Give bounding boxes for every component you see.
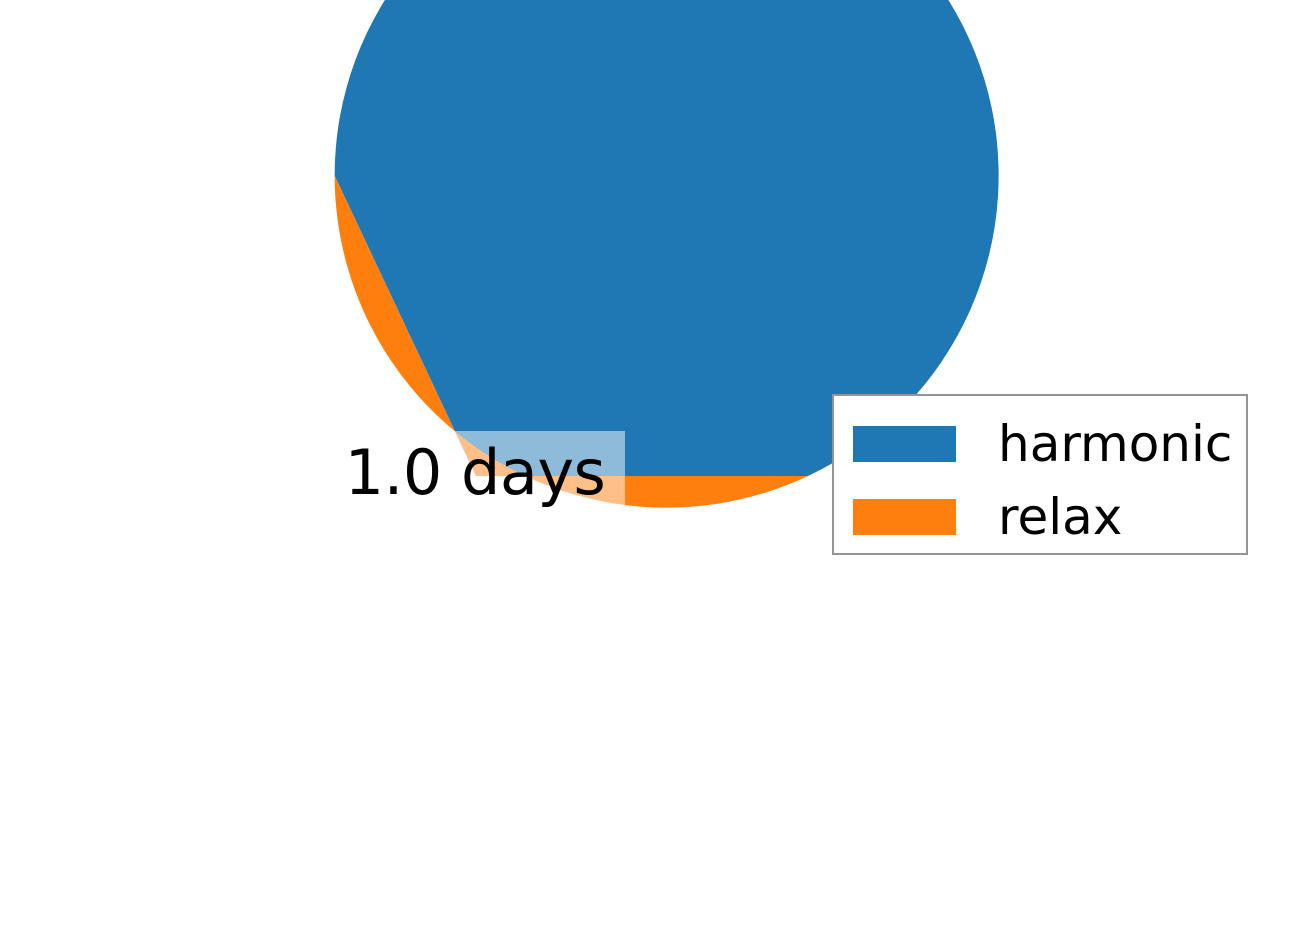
legend-item-relax[interactable]: relax: [834, 480, 1246, 554]
legend-swatch-harmonic: [853, 426, 956, 462]
figure-canvas: 1.0 days harmonic relax: [0, 0, 1307, 951]
legend: harmonic relax: [832, 394, 1248, 555]
legend-label-relax: relax: [998, 480, 1122, 554]
legend-label-harmonic: harmonic: [998, 407, 1232, 481]
legend-swatch-relax: [853, 499, 956, 535]
legend-item-harmonic[interactable]: harmonic: [834, 407, 1246, 481]
pie-center-value-label: 1.0 days: [325, 431, 625, 515]
